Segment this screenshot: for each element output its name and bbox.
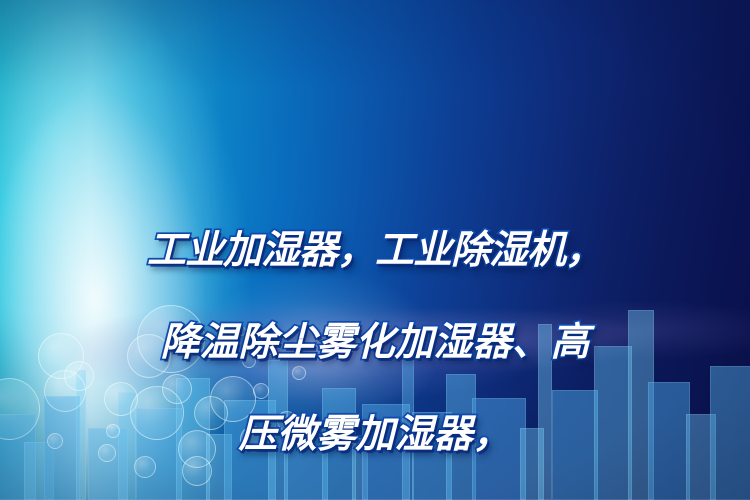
banner-image: 工业加湿器，工业除湿机， 降温除尘雾化加湿器、高 压微雾加湿器， [0,0,750,500]
vignette-overlay [0,0,750,500]
